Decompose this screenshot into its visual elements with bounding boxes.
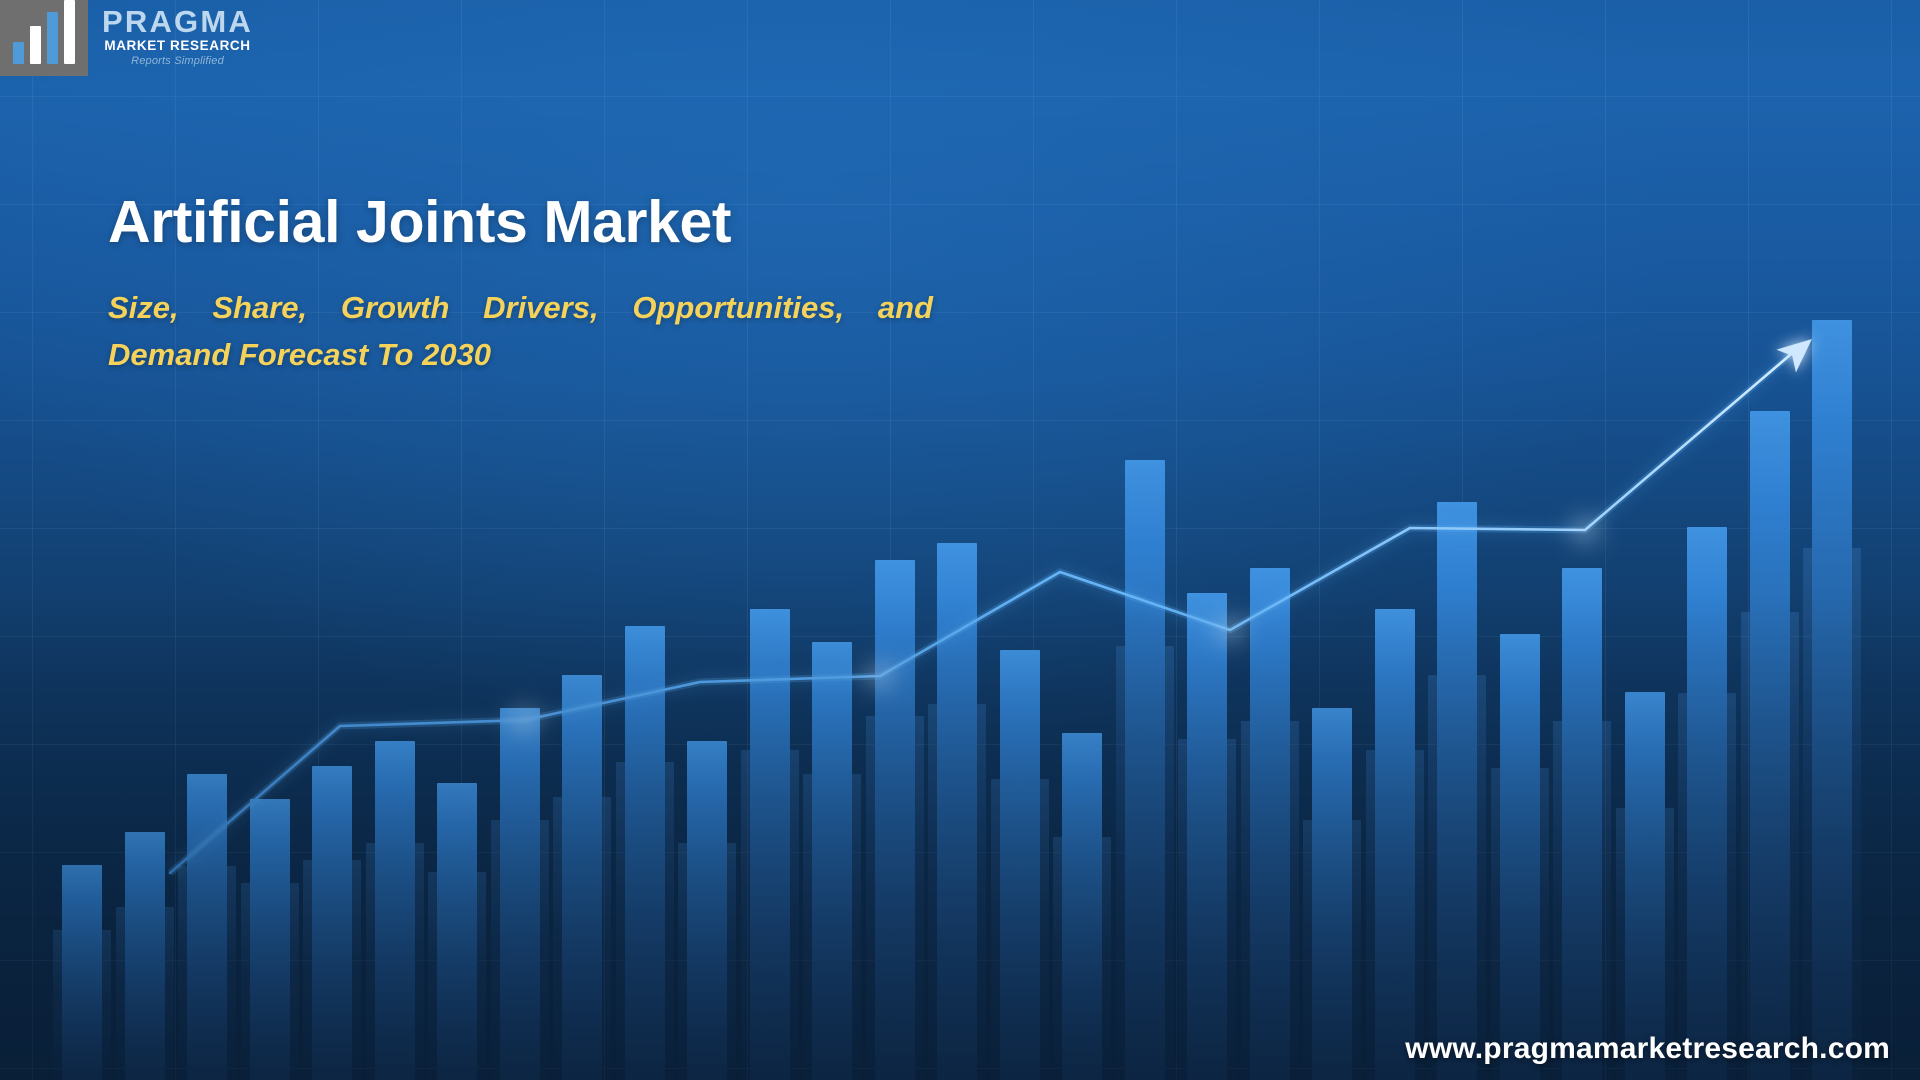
bar-ghost — [741, 750, 799, 1080]
bar — [62, 865, 102, 1080]
bar-ghost — [428, 872, 486, 1080]
trend-node-glow — [1576, 521, 1594, 539]
bar-ghost — [1741, 612, 1799, 1080]
bar-ghost — [1678, 693, 1736, 1080]
bar-ghost — [178, 866, 236, 1080]
bar — [1187, 593, 1227, 1080]
bar — [437, 783, 477, 1080]
bar — [1312, 708, 1352, 1080]
bar-ghost — [116, 907, 174, 1080]
trend-node-glow — [1221, 621, 1239, 639]
bar — [937, 543, 977, 1080]
bar — [1062, 733, 1102, 1080]
trend-node-glow — [871, 667, 889, 685]
bar — [1812, 320, 1852, 1080]
bar-ghost — [866, 716, 924, 1080]
bar-ghost — [1053, 837, 1111, 1080]
bar — [1437, 502, 1477, 1080]
bar — [875, 560, 915, 1080]
bar — [1250, 568, 1290, 1080]
bar-ghost — [491, 820, 549, 1080]
page-title: Artificial Joints Market — [108, 192, 968, 254]
headline-block: Artificial Joints Market Size, Share, Gr… — [108, 192, 968, 378]
bar — [125, 832, 165, 1080]
bar-ghost — [303, 860, 361, 1080]
bar-ghost — [1303, 820, 1361, 1080]
logo-bar-4 — [64, 0, 75, 64]
bar — [1125, 460, 1165, 1080]
brand-name: PRAGMA — [102, 6, 253, 37]
bar — [1562, 568, 1602, 1080]
bar — [1375, 609, 1415, 1080]
bar — [1625, 692, 1665, 1080]
bar-ghost — [1366, 750, 1424, 1080]
bar-ghost — [678, 843, 736, 1080]
bar-ghost — [1241, 721, 1299, 1080]
bar — [812, 642, 852, 1080]
bar — [312, 766, 352, 1080]
bar-series — [0, 0, 1920, 1080]
bar-ghost — [241, 883, 299, 1080]
logo-bar-3 — [47, 12, 58, 64]
bar — [1000, 650, 1040, 1080]
brand-subname: MARKET RESEARCH — [102, 39, 253, 53]
promo-banner: PRAGMA MARKET RESEARCH Reports Simplifie… — [0, 0, 1920, 1080]
background-grid — [0, 0, 1920, 1080]
bar-ghost — [1428, 675, 1486, 1080]
bar — [1687, 527, 1727, 1080]
brand-logo-text: PRAGMA MARKET RESEARCH Reports Simplifie… — [88, 0, 253, 67]
bar-ghost — [1803, 548, 1861, 1080]
logo-bar-1 — [13, 42, 24, 64]
trend-line-series — [0, 0, 1920, 1080]
bar — [187, 774, 227, 1080]
bottom-vignette — [0, 0, 1920, 1080]
brand-logo[interactable]: PRAGMA MARKET RESEARCH Reports Simplifie… — [0, 0, 253, 76]
bar — [250, 799, 290, 1080]
bar — [1750, 411, 1790, 1080]
page-subtitle: Size, Share, Growth Drivers, Opportuniti… — [108, 284, 933, 378]
bar — [500, 708, 540, 1080]
bar-ghost — [366, 843, 424, 1080]
logo-bar-2 — [30, 26, 41, 64]
bar-ghost — [1553, 721, 1611, 1080]
bar-ghost — [616, 762, 674, 1080]
chart-graphic — [0, 0, 1920, 1080]
bar — [1500, 634, 1540, 1080]
bar — [562, 675, 602, 1080]
bar-ghost — [803, 774, 861, 1080]
brand-tagline: Reports Simplified — [102, 56, 253, 67]
bar-ghost — [991, 779, 1049, 1080]
trend-arrow-head-icon — [1776, 328, 1821, 373]
bar-ghost — [928, 704, 986, 1080]
bar — [375, 741, 415, 1080]
website-url[interactable]: www.pragmamarketresearch.com — [1405, 1032, 1890, 1066]
trend-polyline — [170, 328, 1822, 873]
bar — [750, 609, 790, 1080]
bar-ghost — [1116, 646, 1174, 1080]
bar-ghost — [1178, 739, 1236, 1080]
bar — [625, 626, 665, 1080]
bar-chart-logo-icon — [0, 0, 88, 76]
trend-node-glow — [516, 711, 534, 729]
bar-ghost — [553, 797, 611, 1080]
bar — [687, 741, 727, 1080]
bar-ghost — [53, 930, 111, 1080]
